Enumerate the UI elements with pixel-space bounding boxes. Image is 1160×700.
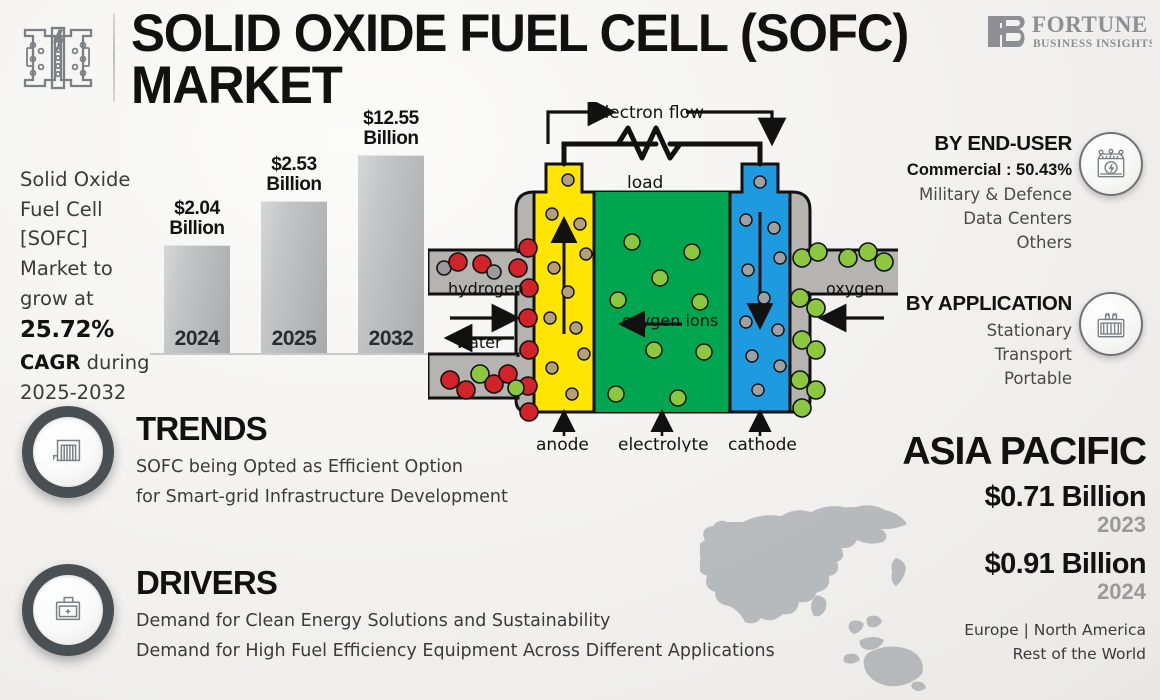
bar-group-1: $2.53 Billion 2025 [261, 201, 327, 353]
oxygen-ions-label: oxygen ions [622, 311, 718, 330]
table-row[interactable]: 2024 [164, 245, 230, 353]
trends-icon-glyph [49, 431, 87, 474]
trends-title: TRENDS [136, 412, 776, 445]
svg-text:FORTUNE: FORTUNE [1032, 12, 1148, 37]
segment-by-end-user: BY END-USER Commercial : 50.43% Military… [812, 132, 1072, 255]
intro-line-2: Fuel Cell [SOFC] [20, 195, 160, 254]
load-label: load [627, 173, 663, 193]
list-item[interactable]: Others [812, 231, 1072, 255]
list-item[interactable]: Transport [812, 343, 1072, 367]
market-size-bar-chart: $2.04 Billion 2024 $2.53 Billion 2025 $1… [150, 140, 435, 375]
infographic-root: SOLID OXIDE FUEL CELL (SOFC) MARKET FORT… [0, 0, 1160, 700]
fuel-cell-stack-icon [8, 10, 108, 106]
bar-year-0: 2024 [164, 327, 230, 351]
trends-block: TRENDS SOFC being Opted as Efficient Opt… [136, 412, 776, 512]
battery-icon [22, 564, 114, 656]
bar-value-1: $2.53 Billion [243, 155, 345, 201]
segment-title: BY END-USER [812, 132, 1072, 156]
water-label: water [456, 333, 502, 352]
industrial-plant-icon [1079, 292, 1143, 356]
bar-year-1: 2025 [261, 327, 327, 351]
intro-line-4: grow at [20, 284, 160, 314]
table-row[interactable]: 2032 [358, 155, 424, 353]
bar-value-0: $2.04 Billion [146, 199, 248, 245]
table-row[interactable]: 2025 [261, 201, 327, 353]
region-year-0: 2023 [846, 513, 1146, 537]
forecast-period: 2025-2032 [20, 378, 160, 408]
during-word: during [87, 351, 150, 374]
electron-flow-label: electron flow [594, 103, 704, 123]
cagr-label: CAGR [20, 351, 80, 374]
segment-title: BY APPLICATION [812, 292, 1072, 316]
intro-line-1: Solid Oxide [20, 165, 160, 195]
svg-text:BUSINESS INSIGHTS: BUSINESS INSIGHTS [1033, 38, 1152, 50]
bar-year-2: 2032 [358, 327, 424, 351]
brand-logo[interactable]: FORTUNE BUSINESS INSIGHTS [986, 8, 1152, 54]
region-highlight: ASIA PACIFIC $0.71 Billion 2023 $0.91 Bi… [846, 432, 1146, 666]
segment-by-application: BY APPLICATION Stationary Transport Port… [812, 292, 1072, 391]
list-item[interactable]: Data Centers [812, 207, 1072, 231]
bar-value-2: $12.55 Billion [340, 109, 442, 155]
segment-lead: Commercial : 50.43% [812, 159, 1072, 183]
cagr-value: 25.72% [20, 313, 160, 348]
other-regions-line-1: Europe | North America [846, 618, 1146, 642]
other-regions: Europe | North America Rest of the World [846, 618, 1146, 666]
list-item[interactable]: Military & Defence [812, 183, 1072, 207]
region-title: ASIA PACIFIC [846, 432, 1146, 471]
list-item[interactable]: Portable [812, 367, 1072, 391]
region-year-1: 2024 [846, 580, 1146, 604]
heat-exchanger-icon [22, 406, 114, 498]
intro-paragraph: Solid Oxide Fuel Cell [SOFC] Market to g… [20, 165, 160, 407]
bar-group-2: $12.55 Billion 2032 [358, 155, 424, 353]
hydrogen-label: hydrogen [448, 279, 524, 298]
header-divider [113, 14, 115, 102]
trends-line-1: SOFC being Opted as Efficient Option [136, 452, 776, 482]
trends-line-2: for Smart-grid Infrastructure Developmen… [136, 482, 776, 512]
region-value-0: $0.71 Billion [846, 481, 1146, 513]
other-regions-line-2: Rest of the World [846, 642, 1146, 666]
list-item[interactable]: Stationary [812, 319, 1072, 343]
cagr-row: CAGR during [20, 348, 160, 378]
intro-line-3: Market to [20, 254, 160, 284]
drivers-icon-glyph [49, 589, 87, 632]
bar-group-0: $2.04 Billion 2024 [164, 245, 230, 353]
chart-baseline [150, 353, 435, 355]
factory-power-icon [1079, 132, 1143, 196]
region-value-1: $0.91 Billion [846, 548, 1146, 580]
page-title: SOLID OXIDE FUEL CELL (SOFC) MARKET [131, 8, 928, 113]
